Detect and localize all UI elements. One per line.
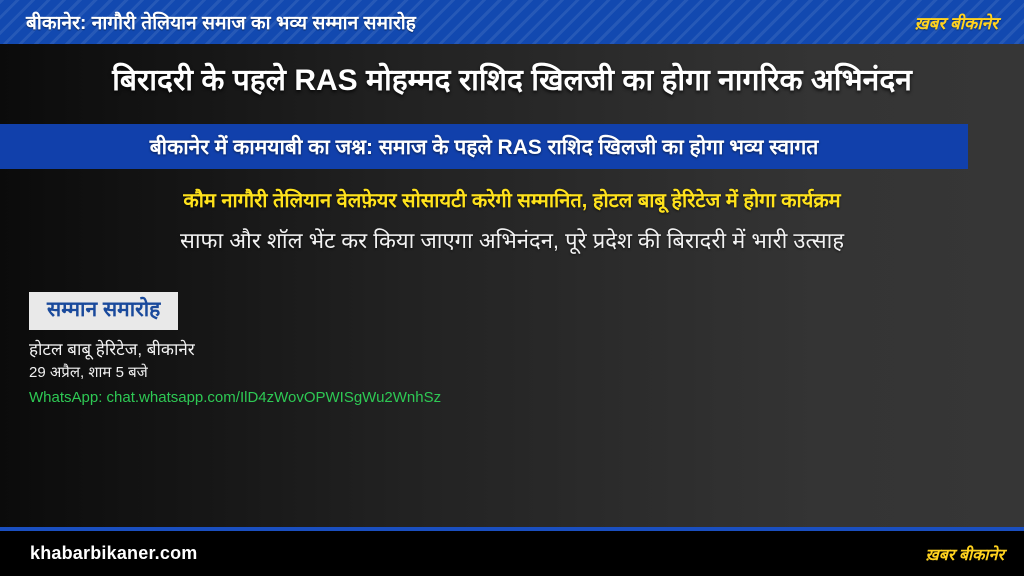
footer-website[interactable]: khabarbikaner.com xyxy=(30,543,197,564)
whatsapp-link[interactable]: WhatsApp: chat.whatsapp.com/IlD4zWovOPWI… xyxy=(29,389,669,408)
strap-banner-text: बीकानेर में कामयाबी का जश्न: समाज के पहल… xyxy=(150,133,819,161)
event-venue: होटल बाबू हेरिटेज, बीकानेर xyxy=(29,339,669,360)
top-bar-kicker: बीकानेर: नागौरी तेलियान समाज का भव्य सम्… xyxy=(26,9,416,35)
subline-yellow-area: कौम नागौरी तेलियान वेलफ़ेयर सोसायटी करेग… xyxy=(0,182,1024,216)
event-datetime: 29 अप्रैल, शाम 5 बजे xyxy=(29,364,669,383)
subline-white-text: साफा और शॉल भेंट कर किया जाएगा अभिनंदन, … xyxy=(180,225,844,255)
subline-white-area: साफा और शॉल भेंट कर किया जाएगा अभिनंदन, … xyxy=(0,222,1024,258)
status-badge: सम्मान समारोह xyxy=(29,292,178,330)
subline-yellow-text: कौम नागौरी तेलियान वेलफ़ेयर सोसायटी करेग… xyxy=(183,186,840,213)
top-bar: बीकानेर: नागौरी तेलियान समाज का भव्य सम्… xyxy=(0,0,1024,44)
page-title: बिरादरी के पहले RAS मोहम्मद राशिद खिलजी … xyxy=(112,64,912,99)
event-details-block: सम्मान समारोह होटल बाबू हेरिटेज, बीकानेर… xyxy=(29,292,669,408)
strap-banner: बीकानेर में कामयाबी का जश्न: समाज के पहल… xyxy=(0,124,968,169)
footer-bar: khabarbikaner.com ख़बर बीकानेर xyxy=(0,531,1024,576)
headline-area: बिरादरी के पहले RAS मोहम्मद राशिद खिलजी … xyxy=(0,48,1024,114)
brand-logo-footer: ख़बर बीकानेर xyxy=(926,543,1004,565)
brand-logo-top: ख़बर बीकानेर xyxy=(909,9,1004,36)
news-card: बीकानेर: नागौरी तेलियान समाज का भव्य सम्… xyxy=(0,0,1024,576)
